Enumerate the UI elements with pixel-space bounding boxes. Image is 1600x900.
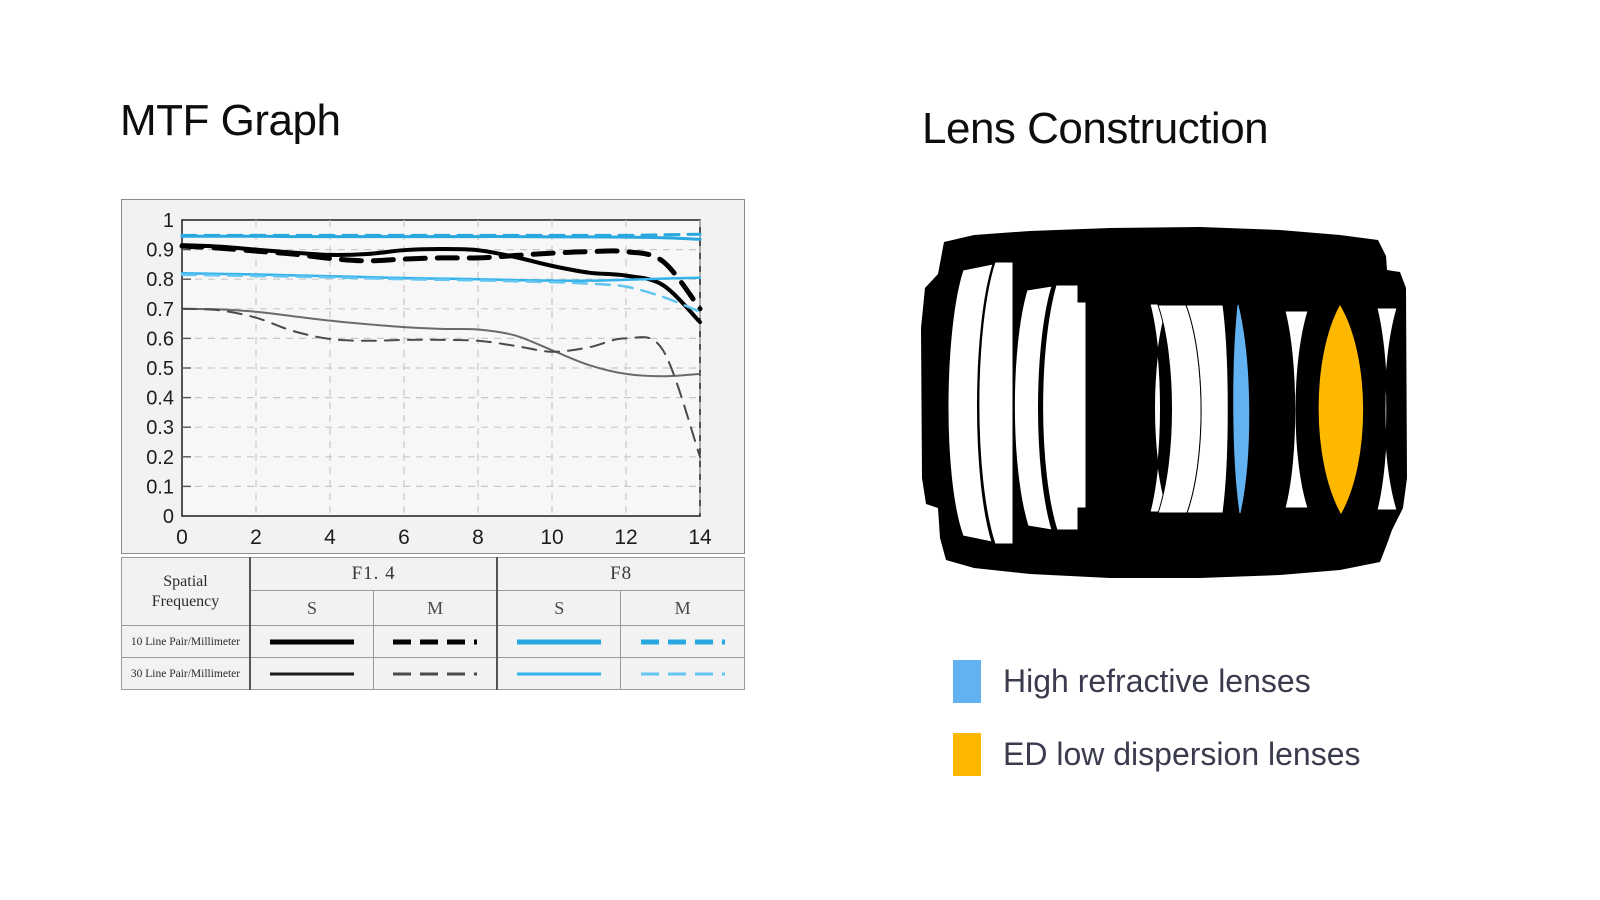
mtf-curve <box>182 234 700 235</box>
legend-line-sample <box>391 667 479 681</box>
lens-element-3 <box>1043 285 1086 530</box>
swatch-30-f14-m <box>374 658 498 690</box>
legend-line-sample <box>639 667 727 681</box>
x-axis-tick-labels: 02468101214 <box>176 526 712 549</box>
legend-item-ed-low-dispersion: ED low dispersion lenses <box>953 733 1361 776</box>
y-tick-label: 0 <box>163 506 174 528</box>
y-axis-tick-labels: 00.10.20.30.40.50.60.70.80.91 <box>146 210 174 528</box>
y-tick-label: 0.3 <box>146 417 174 439</box>
sub-header-f8-s: S <box>497 591 621 626</box>
lens-construction-diagram <box>900 178 1420 628</box>
swatch-10-f8-m <box>621 626 745 658</box>
y-tick-label: 0.1 <box>146 476 174 498</box>
swatch-30-f8-m <box>621 658 745 690</box>
mtf-graph-title: MTF Graph <box>120 96 340 146</box>
lens-construction-title: Lens Construction <box>922 104 1268 154</box>
legend-line-sample <box>268 635 356 649</box>
legend-line-sample <box>515 635 603 649</box>
legend-label-ed-low-dispersion: ED low dispersion lenses <box>1003 736 1361 773</box>
legend-label-high-refractive: High refractive lenses <box>1003 663 1311 700</box>
mtf-chart-svg: 00.10.20.30.40.50.60.70.80.91 0246810121… <box>122 200 744 553</box>
y-tick-label: 0.5 <box>146 358 174 380</box>
x-tick-label: 10 <box>540 526 563 549</box>
x-tick-label: 6 <box>398 526 410 549</box>
table-row-aperture-header: Spatial Frequency F1. 4 F8 <box>122 558 745 591</box>
y-tick-label: 0.4 <box>146 388 174 410</box>
swatch-10-f14-m <box>374 626 498 658</box>
spatial-frequency-line1: Spatial <box>163 573 207 590</box>
freq-label-10lpmm: 10 Line Pair/Millimeter <box>122 626 251 658</box>
mtf-legend-table: Spatial Frequency F1. 4 F8 S M S M 10 Li… <box>121 557 745 690</box>
table-row: 10 Line Pair/Millimeter <box>122 626 745 658</box>
legend-item-high-refractive: High refractive lenses <box>953 660 1311 703</box>
legend-line-sample <box>268 667 356 681</box>
spatial-frequency-header: Spatial Frequency <box>122 558 251 626</box>
freq-label-30lpmm: 30 Line Pair/Millimeter <box>122 658 251 690</box>
swatch-30-f8-s <box>497 658 621 690</box>
y-tick-label: 0.7 <box>146 299 174 321</box>
table-row: 30 Line Pair/Millimeter <box>122 658 745 690</box>
swatch-10-f8-s <box>497 626 621 658</box>
y-tick-label: 1 <box>163 210 174 232</box>
x-tick-label: 14 <box>688 526 712 549</box>
aperture-header-f8: F8 <box>497 558 744 591</box>
x-tick-label: 12 <box>614 526 637 549</box>
y-tick-label: 0.2 <box>146 447 174 469</box>
x-tick-label: 8 <box>472 526 484 549</box>
sub-header-f14-m: M <box>374 591 498 626</box>
x-tick-label: 4 <box>324 526 336 549</box>
yellow-square-swatch <box>953 733 981 776</box>
x-tick-label: 0 <box>176 526 188 549</box>
plot-frame <box>182 220 700 516</box>
y-tick-label: 0.6 <box>146 328 174 350</box>
x-tick-label: 2 <box>250 526 262 549</box>
sub-header-f14-s: S <box>250 591 374 626</box>
lens-diagram-svg <box>900 178 1420 628</box>
mtf-chart-panel: 00.10.20.30.40.50.60.70.80.91 0246810121… <box>121 199 745 554</box>
legend-line-sample <box>515 667 603 681</box>
legend-line-sample <box>639 635 727 649</box>
swatch-10-f14-s <box>250 626 374 658</box>
blue-square-swatch <box>953 660 981 703</box>
y-tick-label: 0.9 <box>146 240 174 262</box>
legend-line-sample <box>391 635 479 649</box>
sub-header-f8-m: M <box>621 591 745 626</box>
swatch-30-f14-s <box>250 658 374 690</box>
aperture-header-f14: F1. 4 <box>250 558 497 591</box>
spatial-frequency-line2: Frequency <box>152 593 220 610</box>
y-tick-label: 0.8 <box>146 269 174 291</box>
